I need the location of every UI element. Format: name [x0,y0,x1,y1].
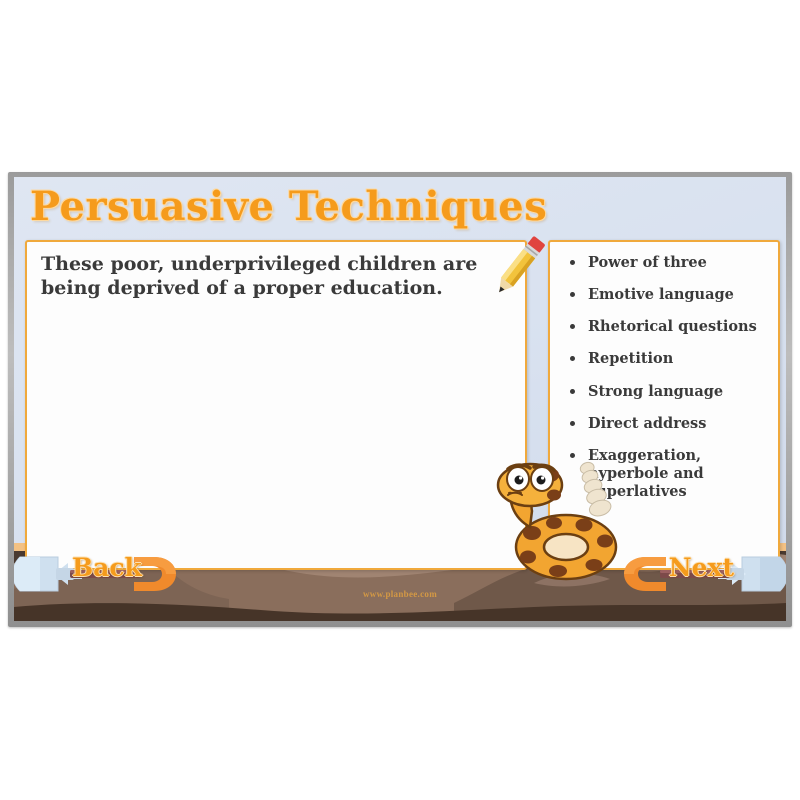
slide-frame: Persuasive Techniques These poor, underp… [8,172,792,627]
back-label: Back [72,553,142,582]
techniques-list: Power of three Emotive language Rhetoric… [558,254,770,501]
answer-text: These poor, underprivileged children are… [41,252,481,301]
list-item[interactable]: Power of three [558,254,770,272]
list-item[interactable]: Emotive language [558,286,770,304]
answer-text-box[interactable]: These poor, underprivileged children are… [25,240,527,570]
watermark: www.planbee.com [14,589,786,599]
list-item[interactable]: Strong language [558,383,770,401]
list-item[interactable]: Direct address [558,415,770,433]
page-root: Persuasive Techniques These poor, underp… [0,0,800,800]
page-title: Persuasive Techniques [30,183,547,230]
list-item[interactable]: Rhetorical questions [558,318,770,336]
list-item[interactable]: Exaggeration, hyperbole and superlatives [558,447,770,501]
list-item[interactable]: Repetition [558,350,770,368]
slide-canvas: Persuasive Techniques These poor, underp… [14,177,786,621]
next-label: Next [669,553,734,582]
techniques-list-box: Power of three Emotive language Rhetoric… [548,240,780,570]
